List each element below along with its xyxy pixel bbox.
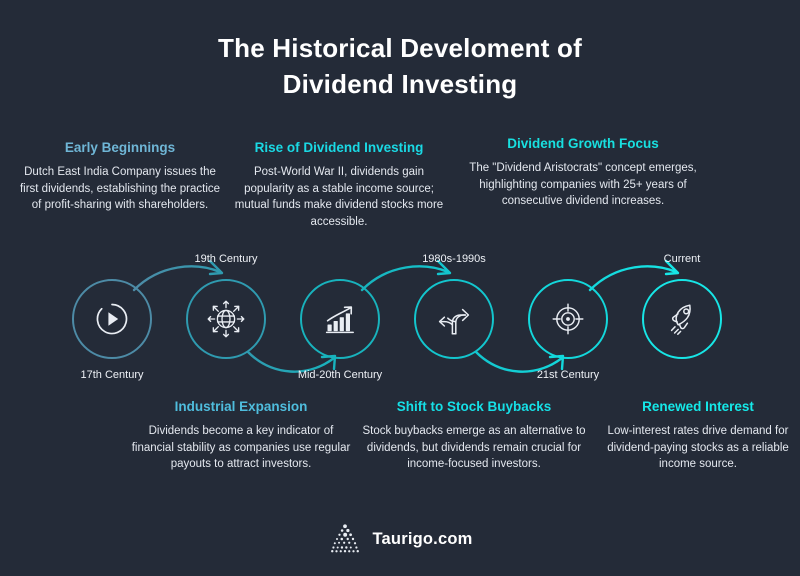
timeline-node-19th-century[interactable] (186, 279, 266, 359)
node-label-17th-century: 17th Century (42, 368, 182, 382)
node-label-21st-century: 21st Century (498, 368, 638, 382)
globe-expand-icon (205, 298, 247, 340)
play-circle-icon (91, 298, 133, 340)
timeline-node-21st-century[interactable] (528, 279, 608, 359)
milestone-body: Dutch East India Company issues the firs… (14, 164, 226, 214)
milestone-body: Post-World War II, dividends gain popula… (228, 164, 450, 230)
milestone-heading: Renewed Interest (592, 398, 800, 416)
timeline-track: 17th Century 19th Century Mid-20th Centu… (0, 248, 800, 393)
brand-name: Taurigo.com (373, 530, 473, 549)
milestone-heading: Shift to Stock Buybacks (356, 398, 592, 416)
milestone-text-shift-to-stock-buybacks: Shift to Stock Buybacks Stock buybacks e… (356, 398, 592, 473)
milestone-heading: Early Beginnings (14, 139, 226, 157)
milestone-body: Dividends become a key indicator of fina… (130, 423, 352, 473)
infographic-canvas: The Historical Develoment of Dividend In… (0, 0, 800, 576)
node-label-current: Current (612, 252, 752, 266)
timeline-node-current[interactable] (642, 279, 722, 359)
node-label-mid-20th-century: Mid-20th Century (270, 368, 410, 382)
bar-chart-growth-icon (319, 298, 361, 340)
title-line-1: The Historical Develoment of (0, 30, 800, 66)
milestone-heading: Rise of Dividend Investing (228, 139, 450, 157)
node-label-1980s-1990s: 1980s-1990s (384, 252, 524, 266)
title-line-2: Dividend Investing (0, 66, 800, 102)
milestone-text-industrial-expansion: Industrial Expansion Dividends become a … (130, 398, 352, 473)
split-arrows-icon (433, 298, 475, 340)
milestone-body: Stock buybacks emerge as an alternative … (356, 423, 592, 473)
target-crosshair-icon (547, 298, 589, 340)
footer-brand: Taurigo.com (0, 522, 800, 556)
milestone-text-rise-of-dividend-investing: Rise of Dividend Investing Post-World Wa… (228, 139, 450, 230)
milestone-text-renewed-interest: Renewed Interest Low-interest rates driv… (592, 398, 800, 473)
node-label-19th-century: 19th Century (156, 252, 296, 266)
milestone-body: Low-interest rates drive demand for divi… (592, 423, 800, 473)
milestone-heading: Dividend Growth Focus (466, 135, 700, 153)
milestone-text-early-beginnings: Early Beginnings Dutch East India Compan… (14, 139, 226, 214)
rocket-icon (661, 298, 703, 340)
milestone-text-dividend-growth-focus: Dividend Growth Focus The "Dividend Aris… (466, 135, 700, 210)
page-title: The Historical Develoment of Dividend In… (0, 30, 800, 102)
timeline-node-1980s-1990s[interactable] (414, 279, 494, 359)
milestone-heading: Industrial Expansion (130, 398, 352, 416)
milestone-body: The "Dividend Aristocrats" concept emerg… (466, 160, 700, 210)
timeline-node-mid-20th-century[interactable] (300, 279, 380, 359)
taurigo-dotted-triangle-logo (328, 522, 362, 556)
timeline-node-17th-century[interactable] (72, 279, 152, 359)
